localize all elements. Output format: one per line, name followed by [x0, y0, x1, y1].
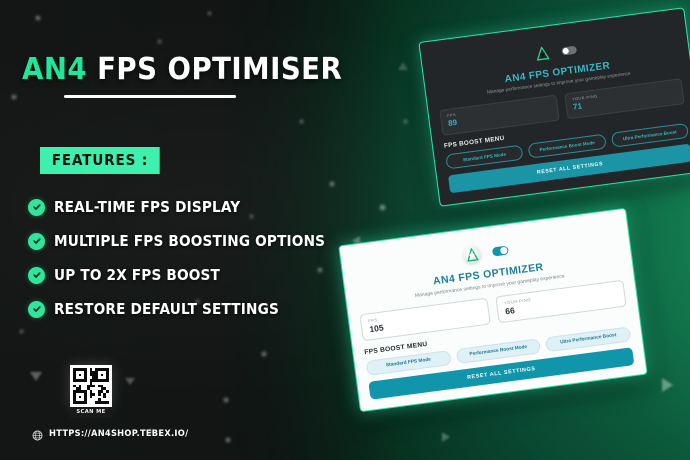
features-list: REAL-TIME FPS DISPLAY MULTIPLE FPS BOOST…	[28, 190, 348, 326]
poster-left-column: AN4 FPS OPTIMISER FEATURES : REAL-TIME F…	[0, 0, 350, 460]
list-item: RESTORE DEFAULT SETTINGS	[28, 292, 348, 326]
particle-dot	[404, 120, 407, 123]
app-logo-icon	[462, 245, 481, 264]
website-url-row[interactable]: HTTPS://AN4SHOP.TEBEX.IO/	[32, 428, 201, 439]
power-toggle-light[interactable]	[491, 246, 508, 257]
qr-code-image[interactable]	[70, 365, 112, 407]
globe-icon	[32, 428, 43, 439]
list-item: UP TO 2X FPS BOOST	[28, 258, 348, 292]
app-logo-icon	[532, 44, 551, 63]
toggle-knob	[500, 247, 507, 254]
power-toggle-dark[interactable]	[561, 45, 577, 55]
particle-triangle	[662, 378, 673, 392]
feature-label: REAL-TIME FPS DISPLAY	[54, 198, 240, 216]
performance-boost-mode-button[interactable]: Performance Boost Mode	[528, 134, 607, 159]
feature-label: UP TO 2X FPS BOOST	[54, 266, 220, 284]
particle-triangle	[442, 432, 450, 442]
toggle-knob	[562, 47, 569, 54]
features-heading: FEATURES :	[40, 147, 160, 174]
page-title-rest: FPS OPTIMISER	[97, 52, 342, 87]
list-item: REAL-TIME FPS DISPLAY	[28, 190, 348, 224]
standard-fps-mode-button[interactable]: Standard FPS Mode	[445, 145, 524, 170]
feature-label: RESTORE DEFAULT SETTINGS	[54, 300, 279, 318]
check-icon	[28, 267, 45, 284]
app-window-dark[interactable]: AN4 FPS OPTIMIZER Manage performance set…	[418, 7, 690, 207]
title-underline	[64, 95, 236, 98]
page-title-accent: AN4	[22, 52, 87, 87]
ultra-performance-boost-button[interactable]: Ultra Performance Boost	[610, 123, 689, 148]
check-icon	[28, 199, 45, 216]
qr-code-modules	[73, 368, 109, 404]
feature-label: MULTIPLE FPS BOOSTING OPTIONS	[54, 232, 325, 250]
qr-code-block[interactable]: SCAN ME	[70, 365, 112, 418]
website-url[interactable]: HTTPS://AN4SHOP.TEBEX.IO/	[49, 429, 188, 439]
particle-triangle	[398, 62, 408, 70]
check-icon	[28, 233, 45, 250]
particle-dot	[380, 205, 385, 210]
page-title: AN4 FPS OPTIMISER	[22, 52, 342, 87]
qr-caption: SCAN ME	[70, 407, 112, 418]
list-item: MULTIPLE FPS BOOSTING OPTIONS	[28, 224, 348, 258]
check-icon	[28, 301, 45, 318]
